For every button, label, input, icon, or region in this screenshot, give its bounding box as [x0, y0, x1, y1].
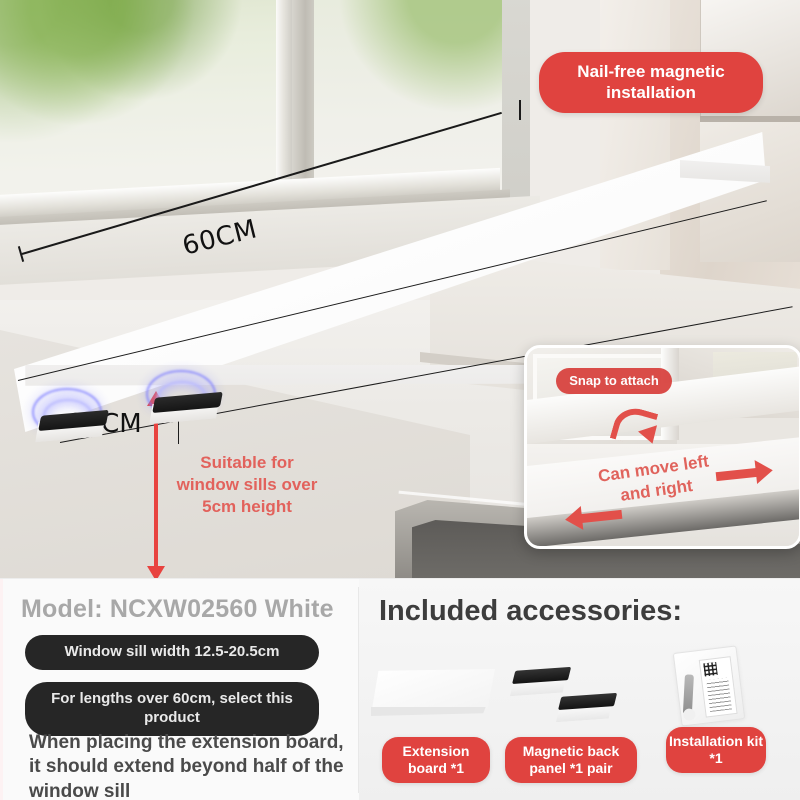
accessory-item: Extension board *1 [371, 651, 501, 783]
accessory-item: Installation kit *1 [651, 641, 781, 773]
accessory-label: Extension board *1 [382, 737, 490, 783]
width-dimension-tick-right [519, 100, 521, 120]
installation-kit-icon [651, 641, 781, 723]
magnetic-panel-shape [508, 667, 574, 695]
tool-tip-shape [683, 708, 696, 721]
poly-bag-shape [673, 645, 746, 726]
accessory-label: Installation kit *1 [666, 727, 766, 773]
height-arrow-icon [154, 404, 158, 568]
placement-instruction: When placing the extension board, it sho… [29, 731, 349, 800]
nail-free-badge: Nail-free magnetic installation [539, 52, 763, 113]
accessories-panel: Included accessories: Extension board *1 [359, 579, 800, 800]
bag-label [699, 656, 738, 717]
label-text-lines [706, 678, 732, 712]
accessory-item: Magnetic back panel *1 pair [505, 651, 635, 783]
sill-height-note: Suitable for window sills over 5cm heigh… [172, 452, 322, 517]
snap-to-attach-badge: Snap to attach [556, 368, 672, 394]
model-label: Model: NCXW02560 White [21, 595, 334, 624]
accessory-label: Magnetic back panel *1 pair [505, 737, 637, 783]
length-advice-pill: For lengths over 60cm, select this produ… [25, 682, 319, 736]
magnetic-panel-icon [505, 651, 635, 733]
magnetic-panel-shape [554, 693, 620, 721]
extension-board-icon [371, 651, 501, 733]
qr-code-icon [703, 662, 717, 676]
extension-board-shape-edge [371, 707, 493, 716]
accessories-title: Included accessories: [379, 595, 682, 628]
sill-width-pill: Window sill width 12.5-20.5cm [25, 635, 319, 670]
info-panel: Model: NCXW02560 White Window sill width… [0, 578, 800, 800]
window-frame [0, 0, 530, 240]
spec-panel: Model: NCXW02560 White Window sill width… [0, 579, 361, 800]
product-photo: 60CM 25CM Suitable for window sills over… [0, 0, 800, 578]
product-infographic: 60CM 25CM Suitable for window sills over… [0, 0, 800, 800]
